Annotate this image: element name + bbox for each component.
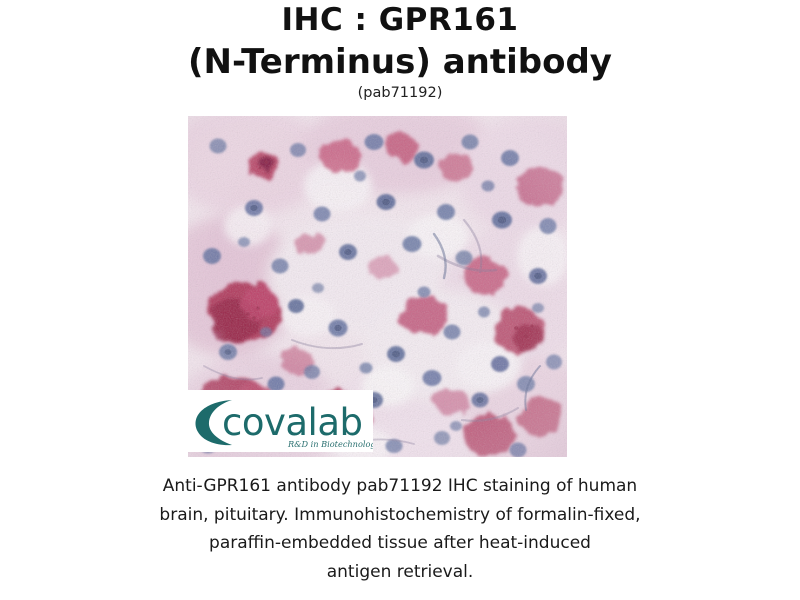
product-image-page: IHC : GPR161 (N-Terminus) antibody (pab7… — [0, 0, 800, 600]
catalog-number: (pab71192) — [0, 84, 800, 102]
logo-tagline-text: R&D in Biotechnology — [287, 439, 373, 449]
caption-line: Anti-GPR161 antibody pab71192 IHC staini… — [70, 472, 730, 501]
covalab-logo-svg: covalab R&D in Biotechnology — [188, 390, 373, 452]
page-title-line-2: (N-Terminus) antibody — [0, 42, 800, 82]
caption-line: brain, pituitary. Immunohistochemistry o… — [70, 501, 730, 530]
title-block: IHC : GPR161 (N-Terminus) antibody (pab7… — [0, 0, 800, 102]
logo-wordmark-text: covalab — [222, 401, 363, 444]
caption-line: paraffin-embedded tissue after heat-indu… — [70, 529, 730, 558]
figure-caption: Anti-GPR161 antibody pab71192 IHC staini… — [70, 472, 730, 586]
page-title-line-1: IHC : GPR161 — [0, 2, 800, 38]
caption-line: antigen retrieval. — [70, 558, 730, 587]
covalab-logo: covalab R&D in Biotechnology — [188, 390, 373, 452]
ihc-micrograph: covalab R&D in Biotechnology — [188, 116, 567, 457]
